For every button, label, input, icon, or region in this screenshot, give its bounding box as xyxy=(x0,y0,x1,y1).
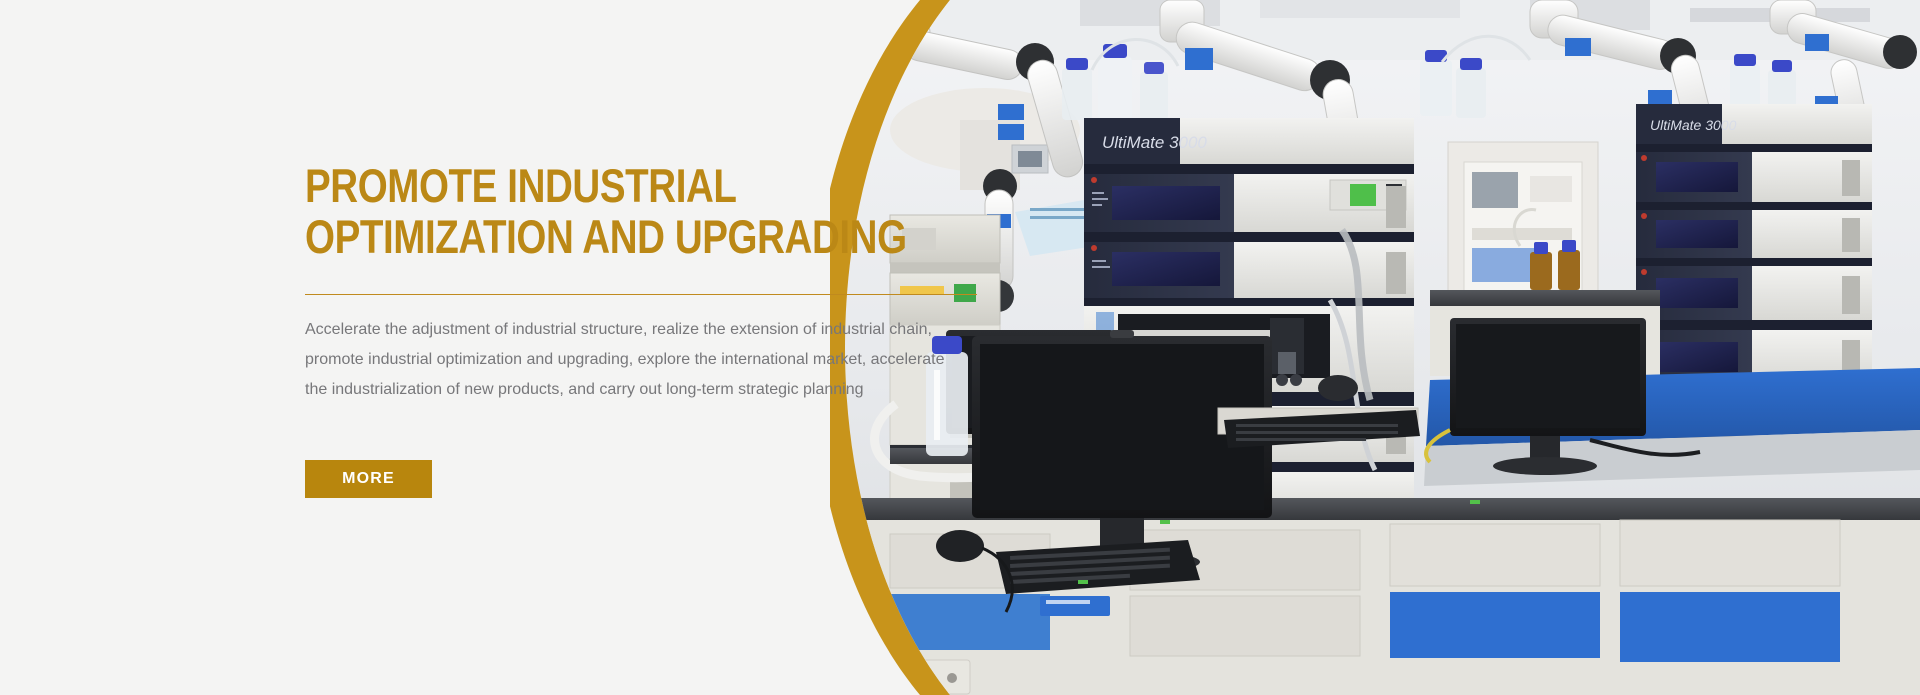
description-line-2: promote industrial optimization and upgr… xyxy=(305,345,1005,375)
more-button[interactable]: MORE xyxy=(305,460,432,498)
hero-banner: UltiMate 3000 xyxy=(0,0,1920,695)
instrument-label-1: UltiMate 3000 xyxy=(1102,133,1207,152)
hero-content: PROMOTE INDUSTRIAL OPTIMIZATION AND UPGR… xyxy=(305,0,1005,695)
bench-item xyxy=(1040,596,1110,616)
page-title: PROMOTE INDUSTRIAL OPTIMIZATION AND UPGR… xyxy=(305,160,1005,262)
hero-description: Accelerate the adjustment of industrial … xyxy=(305,315,1005,405)
instrument-label-2: UltiMate 3000 xyxy=(1650,117,1737,133)
description-line-3: the industrialization of new products, a… xyxy=(305,375,1005,405)
description-line-1: Accelerate the adjustment of industrial … xyxy=(305,315,1005,345)
title-divider xyxy=(305,294,977,295)
headline-line-2: OPTIMIZATION AND UPGRADING xyxy=(305,211,879,262)
headline-line-1: PROMOTE INDUSTRIAL xyxy=(305,160,879,211)
